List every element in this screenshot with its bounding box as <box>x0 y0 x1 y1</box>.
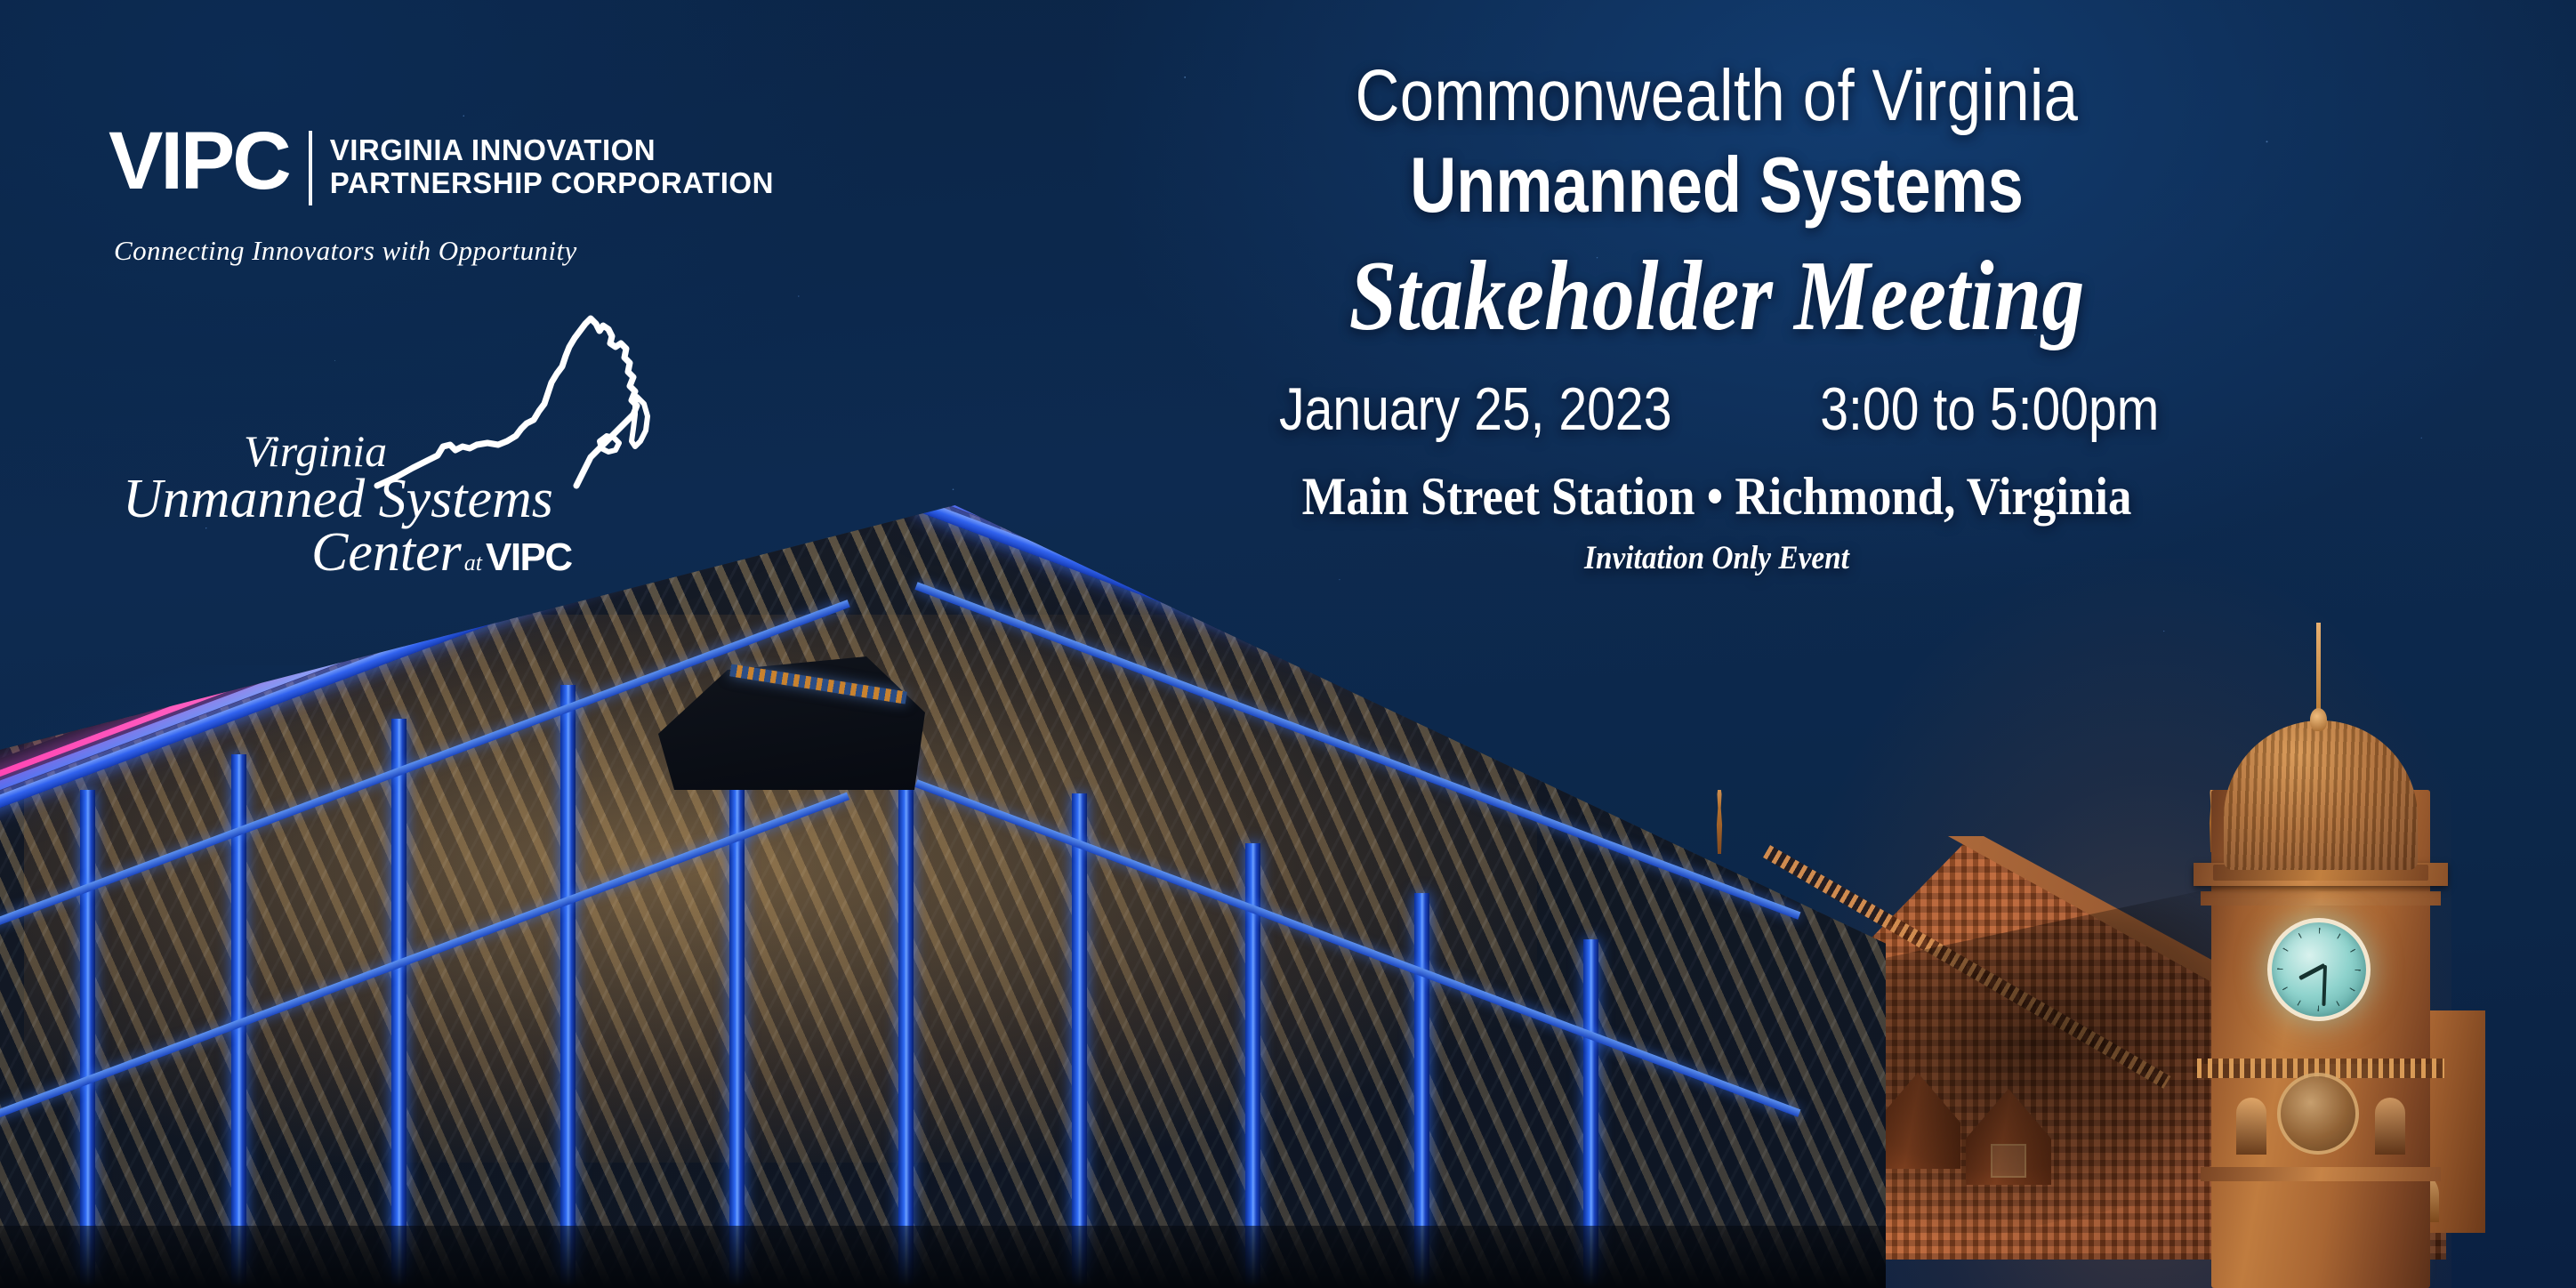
unmanned-systems-center-logo[interactable]: Virginia Unmanned Systems Center at VIPC <box>222 318 720 576</box>
event-banner: VIPC VIRGINIA INNOVATION PARTNERSHIP COR… <box>0 0 2576 1288</box>
event-venue: Main Street Station • Richmond, Virginia <box>1107 467 2328 527</box>
roof-ridge <box>1592 836 2446 1254</box>
steel-column <box>560 685 576 1288</box>
roof-plane <box>1592 841 2446 1260</box>
clock-tick-ring <box>2277 928 2361 1011</box>
tower-glow <box>1775 559 2451 1288</box>
dormer-window <box>1991 1144 2026 1178</box>
lit-window <box>2363 1238 2414 1279</box>
clock-tower <box>2174 576 2467 1288</box>
vipc-name-line-1: VIRGINIA INNOVATION <box>330 133 774 166</box>
vipc-tagline: Connecting Innovators with Opportunity <box>114 235 577 267</box>
ridge-cresting <box>1763 845 2170 1089</box>
dome-base <box>2213 865 2428 881</box>
vipc-full-name: VIRGINIA INNOVATION PARTNERSHIP CORPORAT… <box>330 127 774 200</box>
steel-column <box>1245 843 1260 1288</box>
tile-roof-block <box>1592 790 2491 1288</box>
roof-shadow <box>1790 874 2338 1265</box>
shed-cupola <box>658 656 925 790</box>
event-time: 3:00 to 5:00pm <box>1820 374 2159 444</box>
clock-hour-hand <box>2298 963 2326 980</box>
steel-column <box>231 754 246 1288</box>
steel-column <box>391 719 407 1288</box>
tower-cornice-band <box>2201 1064 2441 1078</box>
vusc-at-word: at <box>464 550 482 576</box>
event-title: Stakeholder Meeting <box>1120 242 2314 351</box>
foreground-shadow <box>0 1226 1886 1288</box>
vusc-line-center-at-vipc: Center at VIPC <box>311 521 572 584</box>
steel-column <box>1583 939 1598 1288</box>
spire-finial <box>2310 708 2327 731</box>
vipc-wordmark: VIPC <box>109 127 289 196</box>
clock-face <box>2267 918 2371 1021</box>
event-subject: Unmanned Systems <box>1147 141 2285 229</box>
clock-minute-hand <box>2322 965 2327 1006</box>
shed-glazing <box>0 505 1886 1288</box>
shed-glow <box>0 665 1281 1288</box>
tower-main-cornice <box>2194 863 2448 886</box>
steel-column <box>729 701 745 1288</box>
steel-rail <box>0 600 850 931</box>
steel-column <box>1072 793 1087 1288</box>
event-datetime-row: January 25, 2023 3:00 to 5:00pm <box>1023 374 2411 444</box>
event-details: Commonwealth of Virginia Unmanned System… <box>1023 53 2411 577</box>
roof-finial <box>2206 790 2218 852</box>
train-shed <box>0 505 1886 1288</box>
masonry-gable <box>2325 1010 2485 1233</box>
logo-group: VIPC VIRGINIA INNOVATION PARTNERSHIP COR… <box>0 0 996 623</box>
event-access-note: Invitation Only Event <box>1092 539 2341 577</box>
steel-column <box>1414 893 1429 1288</box>
steel-column <box>80 790 95 1288</box>
vipc-logo[interactable]: VIPC VIRGINIA INNOVATION PARTNERSHIP COR… <box>109 127 774 205</box>
roof-dormer <box>1966 1089 2051 1185</box>
lower-clock-face <box>2277 1073 2359 1155</box>
tower-arch <box>2375 1098 2405 1155</box>
vipc-name-line-2: PARTNERSHIP CORPORATION <box>330 166 774 199</box>
tower-shaft <box>2211 790 2430 1288</box>
event-date: January 25, 2023 <box>1279 374 1671 444</box>
vusc-center-word: Center <box>311 521 462 584</box>
tower-dome <box>2224 720 2418 870</box>
steel-rail <box>914 779 1800 1117</box>
tower-cornice-band <box>2201 1167 2441 1181</box>
event-eyebrow: Commonwealth of Virginia <box>1134 53 2299 138</box>
logo-divider-rule <box>309 131 312 205</box>
cupola-tilework <box>729 664 907 704</box>
roof-finial <box>1713 790 1726 854</box>
tower-balustrade <box>2197 1059 2444 1078</box>
steel-rail <box>0 793 849 1127</box>
roof-dormer <box>1875 1073 1960 1169</box>
vusc-parent-brand: VIPC <box>486 535 572 580</box>
tower-spire <box>2316 623 2321 728</box>
tower-cornice-band <box>2201 891 2441 906</box>
tower-arch <box>2236 1098 2266 1155</box>
arched-window <box>2391 1171 2439 1222</box>
steel-column <box>898 745 914 1288</box>
steel-rail <box>914 582 1800 920</box>
shed-interior-glow <box>24 615 1536 1163</box>
